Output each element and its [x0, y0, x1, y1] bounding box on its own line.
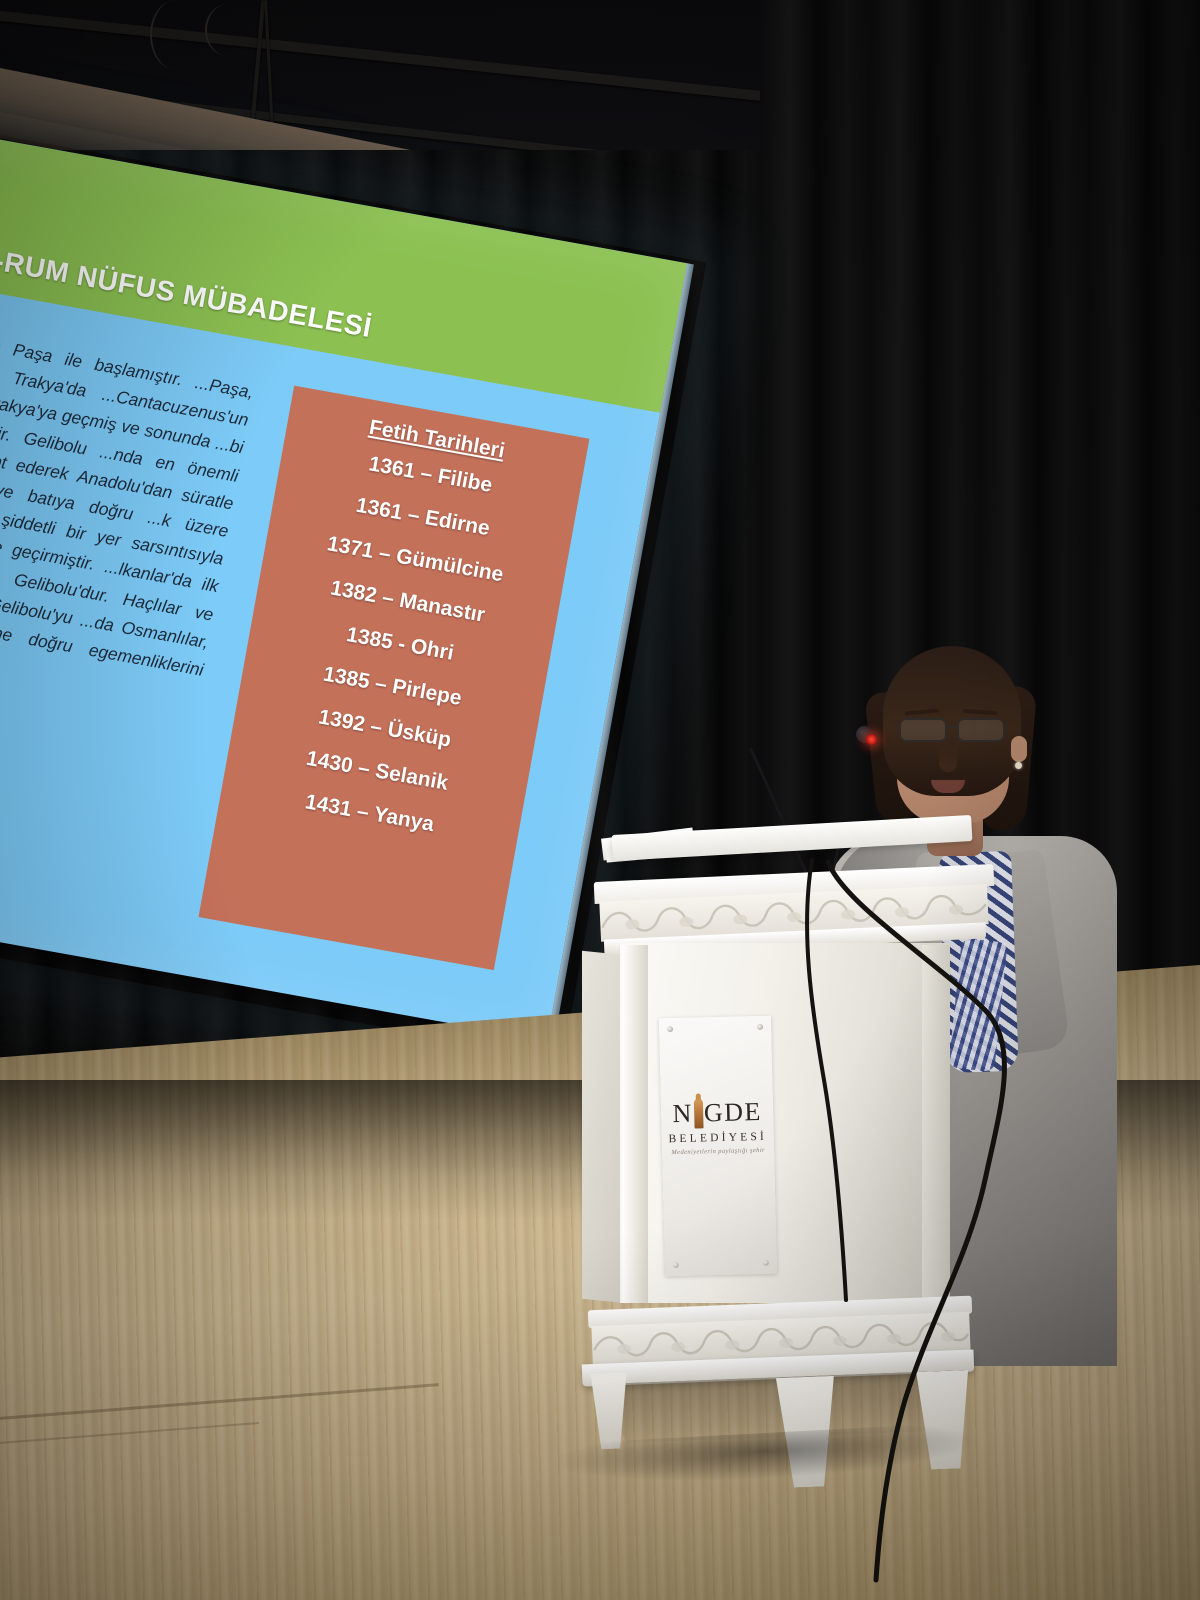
logo-subtitle: BELEDİYESİ: [668, 1130, 767, 1144]
speaker-ear: [1011, 736, 1027, 762]
logo-wordmark: N GDE: [672, 1096, 762, 1128]
clock-tower-icon: [693, 1098, 703, 1128]
eyeglass-lens-left: [899, 718, 947, 742]
eyeglasses-icon: [895, 718, 1013, 738]
plaque-screw: [667, 1026, 673, 1032]
lectern-podium: N GDE BELEDİYESİ Medeniyetlerin paylaştı…: [540, 805, 1010, 1600]
earring-icon: [1015, 762, 1022, 769]
hanging-cable: [205, 4, 251, 56]
speaker-nose: [939, 744, 957, 772]
plaque-screw: [757, 1024, 763, 1030]
plaque-screw: [763, 1260, 769, 1266]
fetih-tarihleri-box: Fetih Tarihleri 1361 – Filibe 1361 – Edi…: [199, 386, 590, 971]
microphone-status-led: [866, 734, 877, 745]
logo-letter-n: N: [672, 1100, 693, 1126]
logo-letters-gde: GDE: [704, 1098, 763, 1125]
podium-pillar-right: [922, 945, 950, 1303]
municipality-logo-plaque: N GDE BELEDİYESİ Medeniyetlerin paylaştı…: [659, 1016, 777, 1277]
logo-tagline: Medeniyetlerin paylaştığı şehir: [671, 1146, 765, 1155]
podium-pillar-left: [622, 945, 648, 1303]
presentation-photo-scene: TÜRK-RUM NÜFUS MÜBADELESİ ...uhatı Süley…: [0, 0, 1200, 1600]
podium-reading-surface: [612, 815, 973, 861]
eyeglass-lens-right: [957, 718, 1005, 742]
hanging-cable: [150, 0, 202, 70]
plaque-screw: [673, 1262, 679, 1268]
hanging-cable: [251, 0, 265, 120]
